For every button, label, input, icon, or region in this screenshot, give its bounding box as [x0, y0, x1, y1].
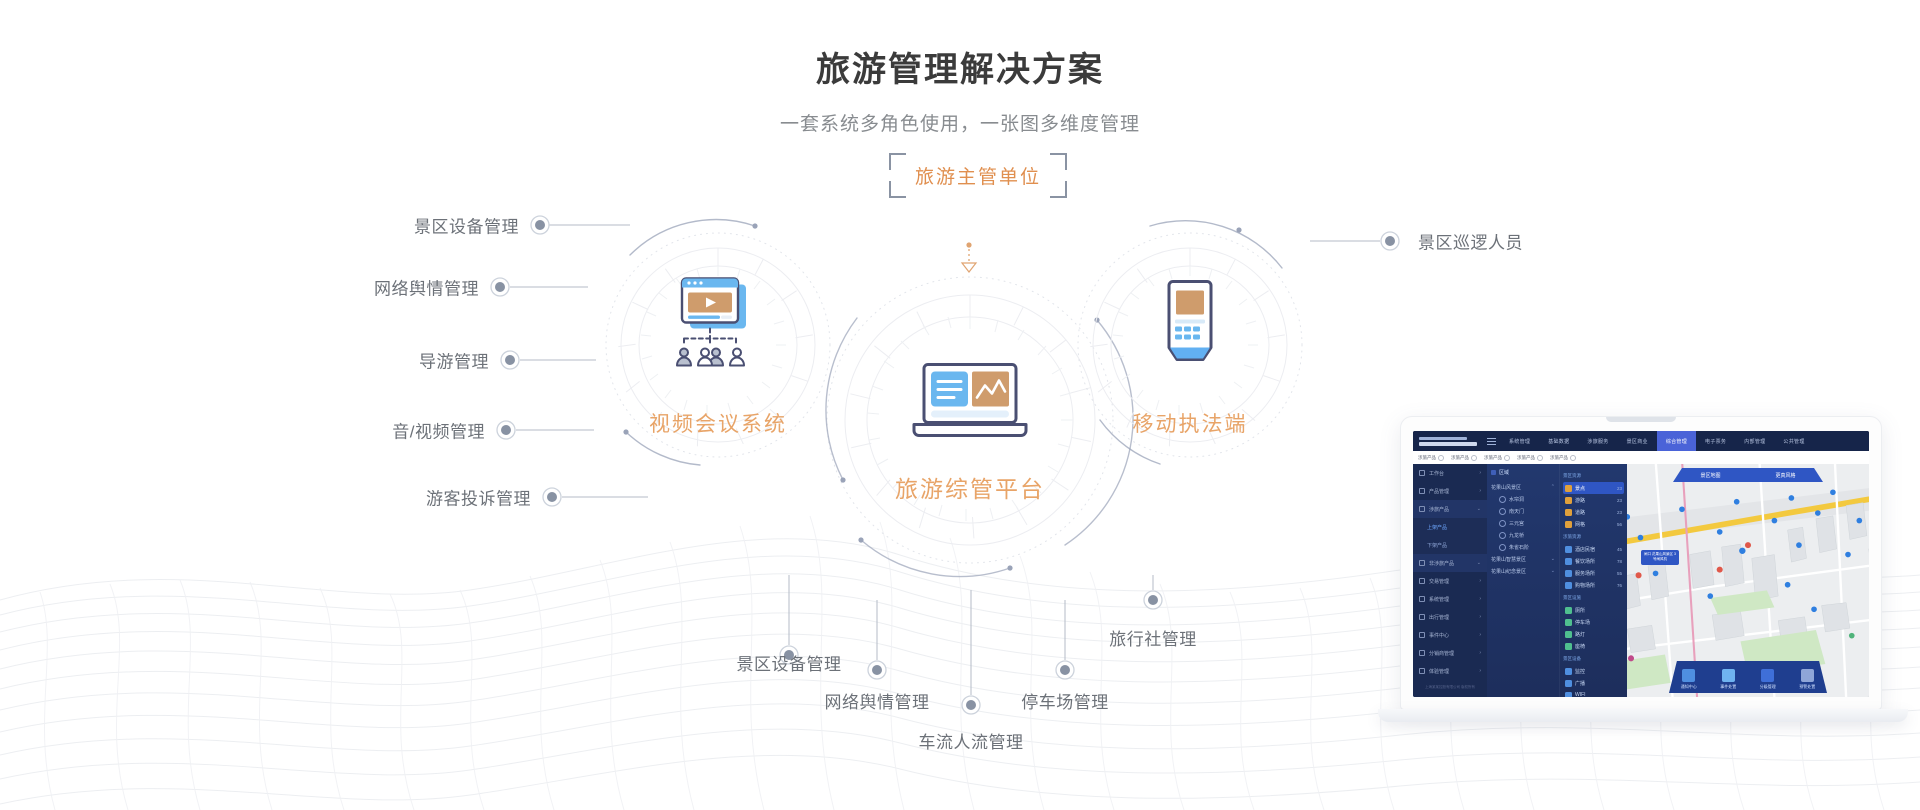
- layer-item-count: 45: [1617, 547, 1622, 552]
- layer-item-icon: [1565, 570, 1572, 577]
- map-dock[interactable]: 通知中心事件处置分级管理预警处置: [1669, 661, 1827, 693]
- sidebar-item-label: 产品管理: [1429, 488, 1449, 495]
- sidebar-item-label: 工作台: [1429, 470, 1444, 477]
- label-bottom-4[interactable]: 旅行社管理: [1109, 625, 1197, 650]
- sidebar-item-11[interactable]: 体验管理›: [1413, 662, 1487, 680]
- tree-group-1[interactable]: 花果山智慧景区⌄: [1491, 553, 1555, 565]
- chevron-icon: ›: [1479, 632, 1481, 638]
- sidebar-item-1[interactable]: 产品管理›: [1413, 482, 1487, 500]
- chevron-icon: ⌄: [1477, 560, 1481, 566]
- page-subtitle: 一套系统多角色使用，一张图多维度管理: [0, 91, 1920, 136]
- layer-item-label: 道路: [1575, 509, 1585, 516]
- layer-item-count: 23: [1617, 498, 1622, 503]
- app-topnav: 系统管理基础数据涉旅服务景区商业综合管理电子票务内部管理公共管理: [1500, 431, 1869, 451]
- layer-item-icon: [1565, 631, 1572, 638]
- label-bottom-3[interactable]: 停车场管理: [1021, 688, 1109, 713]
- layer-item-icon: [1565, 558, 1572, 565]
- tree-node-label: 三元宫: [1509, 520, 1524, 527]
- tab-label: 涉旅产品: [1484, 455, 1502, 461]
- layer-list: 景区资源景点23游路23道路23网格56涉旅资源酒店民宿45餐饮场所78服务场所…: [1559, 464, 1627, 697]
- sidebar-item-label: 交易管理: [1429, 578, 1449, 585]
- list-icon: [1491, 470, 1496, 475]
- badge-corner-bottom-right: [1050, 181, 1067, 198]
- label-right-0[interactable]: 景区巡逻人员: [1418, 229, 1523, 254]
- badge-corner-top-left: [889, 153, 906, 170]
- layer-item-label: 厕所: [1575, 607, 1585, 614]
- sidebar-item-label: 上架产品: [1427, 524, 1447, 531]
- sidebar-item-9[interactable]: 事件中心›: [1413, 626, 1487, 644]
- tree-group-label: 花果山纪念景区: [1491, 568, 1526, 575]
- badge-label: 旅游主管单位: [915, 167, 1041, 188]
- sidebar-item-label: 出行管理: [1429, 614, 1449, 621]
- layer-item-label: 座椅: [1575, 643, 1585, 650]
- tree-node-0-1[interactable]: 南天门: [1491, 505, 1555, 517]
- sidebar-item-icon: [1419, 650, 1425, 656]
- map-dock-item-3[interactable]: 预警处置: [1799, 669, 1815, 690]
- app-topbar: 系统管理基础数据涉旅服务景区商业综合管理电子票务内部管理公共管理: [1413, 431, 1869, 451]
- sidebar-item-label: 非涉旅产品: [1429, 560, 1454, 567]
- tab-close-icon[interactable]: [1570, 455, 1576, 461]
- layer-item-icon: [1565, 607, 1572, 614]
- tree-node-label: 南天门: [1509, 508, 1524, 515]
- layer-item-label: 餐饮场所: [1575, 558, 1595, 565]
- layer-item-label: 购物场所: [1575, 582, 1595, 589]
- layer-item-icon: [1565, 485, 1572, 492]
- layer-item-label: 广播: [1575, 680, 1585, 687]
- chevron-up-icon[interactable]: ⌃: [1551, 484, 1555, 490]
- layer-item-label: 网格: [1575, 521, 1585, 528]
- tree-node-label: 朱雀石阶: [1509, 544, 1529, 551]
- map-dock-label: 事件处置: [1720, 684, 1736, 690]
- layer-item-icon: [1565, 692, 1572, 698]
- video-conference-icon: [658, 273, 778, 388]
- topnav-item-2[interactable]: 涉旅服务: [1578, 431, 1617, 451]
- tree-node-bullet: [1499, 520, 1506, 527]
- layer-item-label: 酒店民宿: [1575, 546, 1595, 553]
- map-dock-item-0[interactable]: 通知中心: [1681, 669, 1697, 690]
- tabbar-tab-3[interactable]: 涉旅产品: [1517, 455, 1547, 461]
- chevron-icon: ›: [1479, 596, 1481, 602]
- sidebar-item-icon: [1419, 578, 1425, 584]
- sidebar-item-3[interactable]: 上架产品: [1413, 518, 1487, 536]
- map-toolbar-item-1[interactable]: 更真风格: [1775, 472, 1795, 479]
- page-root: 旅游管理解决方案 一套系统多角色使用，一张图多维度管理: [0, 0, 1920, 810]
- layer-item-1-2[interactable]: 服务场所55: [1563, 567, 1624, 579]
- left-connector-dots: [491, 216, 561, 506]
- map-dock-icon: [1801, 669, 1814, 682]
- sidebar-item-6[interactable]: 交易管理›: [1413, 572, 1487, 590]
- layer-item-0-2[interactable]: 道路23: [1563, 506, 1624, 518]
- mobile-enforcement-icon: [1153, 280, 1227, 381]
- map-dock-label: 分级管理: [1760, 684, 1776, 690]
- app-layer-panel: 区域 花果山风景区⌃水帘洞南天门三元宫九龙桥朱雀石阶花果山智慧景区⌄花果山纪念景…: [1487, 464, 1627, 697]
- sidebar-item-4[interactable]: 下架产品: [1413, 536, 1487, 554]
- map-dock-item-2[interactable]: 分级管理: [1760, 669, 1776, 690]
- tabbar-tab-4[interactable]: 涉旅产品: [1550, 455, 1580, 461]
- laptop-lid: 系统管理基础数据涉旅服务景区商业综合管理电子票务内部管理公共管理 涉旅产品涉旅产…: [1400, 416, 1882, 710]
- topnav-item-1[interactable]: 基础数据: [1539, 431, 1578, 451]
- chevron-icon: ›: [1479, 578, 1481, 584]
- sidebar-item-7[interactable]: 系统管理›: [1413, 590, 1487, 608]
- header: 旅游管理解决方案 一套系统多角色使用，一张图多维度管理: [0, 0, 1920, 136]
- app-tabbar: 涉旅产品涉旅产品涉旅产品涉旅产品涉旅产品: [1413, 451, 1869, 464]
- layer-item-label: 服务场所: [1575, 570, 1595, 577]
- layer-item-count: 76: [1617, 583, 1622, 588]
- map-dock-icon: [1761, 669, 1774, 682]
- app-logo: [1413, 431, 1487, 451]
- label-left-3[interactable]: 音/视频管理: [392, 418, 485, 443]
- tab-close-icon[interactable]: [1471, 455, 1477, 461]
- chevron-icon: ›: [1479, 668, 1481, 674]
- tree-node-label: 九龙桥: [1509, 532, 1524, 539]
- layer-item-3-2[interactable]: WIFI: [1563, 689, 1624, 697]
- sidebar-item-label: 系统管理: [1429, 596, 1449, 603]
- chevron-down-icon[interactable]: ⌄: [1551, 568, 1555, 574]
- layer-group-title-3: 景区设备: [1563, 656, 1624, 662]
- layer-group-title-0: 景区资源: [1563, 473, 1624, 479]
- map-marker-tooltip: 闸口 花果山风景区 3号闸风机: [1641, 550, 1679, 565]
- app-sidebar: 工作台›产品管理›涉旅产品⌄上架产品下架产品非涉旅产品⌄交易管理›系统管理›出行…: [1413, 464, 1487, 697]
- badge-corner-bottom-left: [889, 181, 906, 198]
- right-connector-dots: [1381, 232, 1399, 250]
- chevron-down-icon[interactable]: ⌄: [1551, 556, 1555, 562]
- layer-item-0-1[interactable]: 游路23: [1563, 494, 1624, 506]
- layer-item-label: WIFI: [1575, 692, 1586, 697]
- sidebar-item-icon: [1419, 488, 1425, 494]
- label-left-4[interactable]: 游客投诉管理: [426, 485, 531, 510]
- tree-node-label: 水帘洞: [1509, 496, 1524, 503]
- sidebar-item-icon: [1419, 506, 1425, 512]
- chevron-icon: ›: [1479, 470, 1481, 476]
- layer-item-icon: [1565, 668, 1572, 675]
- layer-item-icon: [1565, 680, 1572, 687]
- layer-item-label: 监控: [1575, 668, 1585, 675]
- sidebar-item-0[interactable]: 工作台›: [1413, 464, 1487, 482]
- layer-group-title-1: 涉旅资源: [1563, 534, 1624, 540]
- layer-item-count: 23: [1617, 486, 1622, 491]
- topnav-item-4[interactable]: 综合管理: [1657, 431, 1696, 451]
- tab-label: 涉旅产品: [1550, 455, 1568, 461]
- laptop-mockup: 系统管理基础数据涉旅服务景区商业综合管理电子票务内部管理公共管理 涉旅产品涉旅产…: [1378, 416, 1908, 760]
- layer-item-icon: [1565, 582, 1572, 589]
- layer-item-2-0[interactable]: 厕所: [1563, 604, 1624, 616]
- page-title: 旅游管理解决方案: [0, 0, 1920, 91]
- sidebar-item-label: 涉旅产品: [1429, 506, 1449, 513]
- left-connectors: [510, 225, 648, 497]
- topnav-item-5[interactable]: 电子票务: [1696, 431, 1735, 451]
- tree-node-0-4[interactable]: 朱雀石阶: [1491, 541, 1555, 553]
- topnav-item-7[interactable]: 公共管理: [1774, 431, 1813, 451]
- topnav-item-3[interactable]: 景区商业: [1618, 431, 1657, 451]
- sidebar-item-icon: [1419, 614, 1425, 620]
- laptop-screen: 系统管理基础数据涉旅服务景区商业综合管理电子票务内部管理公共管理 涉旅产品涉旅产…: [1413, 431, 1869, 697]
- authority-badge[interactable]: 旅游主管单位: [889, 153, 1067, 198]
- tree-node-0-3[interactable]: 九龙桥: [1491, 529, 1555, 541]
- sidebar-item-icon: [1419, 596, 1425, 602]
- label-bottom-1[interactable]: 网络舆情管理: [825, 688, 930, 713]
- sidebar-item-label: 事件中心: [1429, 632, 1449, 639]
- layer-item-count: 78: [1617, 559, 1622, 564]
- tree-group-2[interactable]: 花果山纪念景区⌄: [1491, 565, 1555, 577]
- tree-node-bullet: [1499, 496, 1506, 503]
- layer-item-label: 路灯: [1575, 631, 1585, 638]
- sidebar-item-icon: [1419, 470, 1425, 476]
- tree-group-0[interactable]: 花果山风景区⌃: [1491, 481, 1555, 493]
- badge-corner-top-right: [1050, 153, 1067, 170]
- laptop-notch: [1606, 417, 1676, 422]
- tree-group-label: 花果山智慧景区: [1491, 556, 1526, 563]
- layer-item-count: 56: [1617, 522, 1622, 527]
- laptop-base: [1378, 709, 1908, 722]
- map-toolbar-item-0[interactable]: 景区地图: [1700, 472, 1720, 479]
- sidebar-item-icon: [1419, 560, 1425, 566]
- chevron-icon: ›: [1479, 614, 1481, 620]
- tab-close-icon[interactable]: [1537, 455, 1543, 461]
- layer-item-icon: [1565, 497, 1572, 504]
- map-view[interactable]: 景区地图更真风格 闸口 花果山风景区 3号闸风机 通知中心事件处置分级管理预警处…: [1627, 464, 1869, 697]
- tree-group-label: 花果山风景区: [1491, 484, 1521, 491]
- sidebar-footer: 上海某某控股有限公司 版权所有: [1413, 685, 1487, 691]
- chevron-icon: ›: [1479, 650, 1481, 656]
- tab-close-icon[interactable]: [1504, 455, 1510, 461]
- tree-node-bullet: [1499, 508, 1506, 515]
- laptop-dashboard-icon: [906, 361, 1034, 450]
- tab-label: 涉旅产品: [1418, 455, 1436, 461]
- node-caption-video: 视频会议系统: [649, 408, 787, 438]
- layer-item-icon: [1565, 546, 1572, 553]
- layer-item-count: 23: [1617, 510, 1622, 515]
- sidebar-item-label: 分销商管理: [1429, 650, 1454, 657]
- layer-item-label: 游路: [1575, 497, 1585, 504]
- topnav-item-6[interactable]: 内部管理: [1735, 431, 1774, 451]
- node-caption-platform: 旅游综管平台: [895, 470, 1045, 504]
- layer-group-title-2: 景区设施: [1563, 595, 1624, 601]
- sidebar-item-label: 下架产品: [1427, 542, 1447, 549]
- sidebar-item-10[interactable]: 分销商管理›: [1413, 644, 1487, 662]
- region-tree: 区域 花果山风景区⌃水帘洞南天门三元宫九龙桥朱雀石阶花果山智慧景区⌄花果山纪念景…: [1487, 464, 1559, 697]
- chevron-icon: ›: [1479, 488, 1481, 494]
- layer-item-1-3[interactable]: 购物场所76: [1563, 579, 1624, 591]
- sidebar-item-2[interactable]: 涉旅产品⌄: [1413, 500, 1487, 518]
- tree-node-0-2[interactable]: 三元宫: [1491, 517, 1555, 529]
- label-left-0[interactable]: 景区设备管理: [414, 213, 519, 238]
- tree-node-0-0[interactable]: 水帘洞: [1491, 493, 1555, 505]
- layer-item-icon: [1565, 643, 1572, 650]
- topnav-item-0[interactable]: 系统管理: [1500, 431, 1539, 451]
- layer-item-2-3[interactable]: 座椅: [1563, 640, 1624, 652]
- layer-item-icon: [1565, 509, 1572, 516]
- tree-node-bullet: [1499, 544, 1506, 551]
- layer-item-icon: [1565, 619, 1572, 626]
- region-tree-head-label: 区域: [1499, 469, 1509, 476]
- map-dock-label: 通知中心: [1681, 684, 1697, 690]
- layer-item-1-0[interactable]: 酒店民宿45: [1563, 543, 1624, 555]
- layer-item-0-0[interactable]: 景点23: [1563, 482, 1624, 494]
- hamburger-icon[interactable]: [1487, 431, 1500, 451]
- tab-label: 涉旅产品: [1451, 455, 1469, 461]
- map-dock-icon: [1722, 669, 1735, 682]
- node-caption-mobile: 移动执法端: [1133, 408, 1248, 438]
- map-dock-icon: [1682, 669, 1695, 682]
- layer-item-label: 景点: [1575, 485, 1585, 492]
- sidebar-item-5[interactable]: 非涉旅产品⌄: [1413, 554, 1487, 572]
- layer-item-2-1[interactable]: 停车场: [1563, 616, 1624, 628]
- label-left-1[interactable]: 网络舆情管理: [374, 275, 479, 300]
- label-left-2[interactable]: 导游管理: [419, 348, 489, 373]
- badge-arrow-connector: [962, 242, 976, 272]
- map-toolbar[interactable]: 景区地图更真风格: [1673, 468, 1823, 482]
- layer-item-2-2[interactable]: 路灯: [1563, 628, 1624, 640]
- tab-close-icon[interactable]: [1438, 455, 1444, 461]
- layer-item-3-1[interactable]: 广播: [1563, 677, 1624, 689]
- label-bottom-0[interactable]: 景区设备管理: [737, 650, 842, 675]
- tabbar-tab-1[interactable]: 涉旅产品: [1451, 455, 1481, 461]
- layer-item-icon: [1565, 521, 1572, 528]
- layer-item-label: 停车场: [1575, 619, 1590, 626]
- sidebar-item-icon: [1419, 632, 1425, 638]
- tree-node-bullet: [1499, 532, 1506, 539]
- tabbar-tab-2[interactable]: 涉旅产品: [1484, 455, 1514, 461]
- chevron-icon: ⌄: [1477, 506, 1481, 512]
- sidebar-item-label: 体验管理: [1429, 668, 1449, 675]
- layer-item-3-0[interactable]: 监控: [1563, 665, 1624, 677]
- tab-label: 涉旅产品: [1517, 455, 1535, 461]
- region-tree-head: 区域: [1491, 469, 1555, 476]
- layer-item-0-3[interactable]: 网格56: [1563, 518, 1624, 530]
- layer-item-count: 55: [1617, 571, 1622, 576]
- bottom-connectors: [789, 575, 1153, 695]
- map-dock-item-1[interactable]: 事件处置: [1720, 669, 1736, 690]
- layer-item-1-1[interactable]: 餐饮场所78: [1563, 555, 1624, 567]
- sidebar-item-icon: [1419, 668, 1425, 674]
- sidebar-item-8[interactable]: 出行管理›: [1413, 608, 1487, 626]
- label-bottom-2[interactable]: 车流人流管理: [919, 728, 1024, 753]
- tabbar-tab-0[interactable]: 涉旅产品: [1418, 455, 1448, 461]
- map-dock-label: 预警处置: [1799, 684, 1815, 690]
